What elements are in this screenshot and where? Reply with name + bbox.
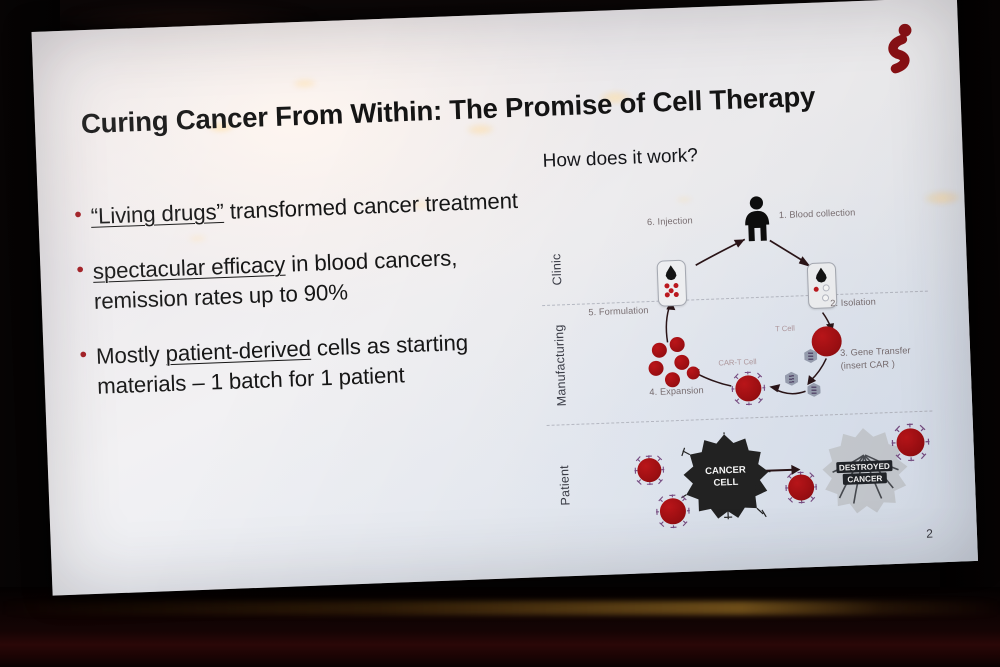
page-title: Curing Cancer From Within: The Promise o…	[80, 77, 911, 140]
bullet-rest: transformed cancer treatment	[223, 188, 518, 224]
cancer-cell-label-line2: CELL	[713, 477, 738, 489]
page-number: 2	[926, 527, 933, 541]
car-t-cell	[891, 423, 930, 462]
step-label-gene-transfer-sub: (insert CAR )	[840, 359, 895, 371]
bullet-list: • “Living drugs” transformed cancer trea…	[74, 186, 532, 428]
list-item: • “Living drugs” transformed cancer trea…	[74, 186, 525, 233]
bullet-marker: •	[74, 202, 82, 232]
cell-dot-empty	[822, 294, 829, 301]
step-label-injection: 6. Injection	[647, 215, 693, 227]
cell-dot	[814, 287, 819, 292]
bullet-emphasis: “Living drugs”	[90, 199, 224, 229]
blood-drop-icon	[815, 267, 828, 282]
cancer-cell-icon: CANCER CELL	[679, 431, 772, 522]
bullet-text: spectacular efficacy in blood cancers, r…	[92, 241, 528, 317]
stage-edge-light-glow	[0, 601, 1000, 615]
bullet-emphasis: spectacular efficacy	[92, 252, 285, 284]
projection-screen: Curing Cancer From Within: The Promise o…	[31, 0, 978, 596]
blood-drop-icon	[665, 265, 678, 280]
car-t-cell	[785, 471, 818, 504]
bullet-text: Mostly patient-derived cells as starting…	[96, 326, 532, 402]
list-item: • spectacular efficacy in blood cancers,…	[76, 241, 528, 318]
process-diagram: How does it work? Clinic Manufacturing P…	[528, 136, 942, 541]
cell-dot	[674, 292, 679, 297]
cell-dot	[669, 288, 674, 293]
car-t-cell	[731, 371, 766, 406]
step-label-isolation: 2. Isolation	[830, 297, 876, 309]
cell-dot	[673, 283, 678, 288]
lamp-reflection	[291, 77, 317, 88]
list-item: • Mostly patient-derived cells as starti…	[79, 326, 531, 403]
cell-dot	[665, 292, 670, 297]
blood-bag-icon	[657, 260, 688, 307]
destroyed-label-line1: DESTROYED	[839, 462, 890, 473]
company-logo	[882, 23, 918, 76]
slide: Curing Cancer From Within: The Promise o…	[31, 0, 978, 596]
car-t-cell	[655, 494, 690, 529]
destroyed-label-line2: CANCER	[847, 474, 882, 484]
cancer-cell-label-line1: CANCER	[705, 465, 746, 478]
bullet-pre: Mostly	[96, 341, 166, 369]
cell-dot-empty	[823, 284, 830, 291]
person-icon	[741, 194, 773, 243]
bullet-marker: •	[79, 342, 89, 402]
bullet-emphasis: patient-derived	[165, 336, 311, 366]
bullet-text: “Living drugs” transformed cancer treatm…	[90, 186, 518, 232]
auditorium-photo: Curing Cancer From Within: The Promise o…	[0, 0, 1000, 667]
step-label-expansion: 4. Expansion	[649, 385, 704, 397]
room-darkness-bottom	[0, 587, 1000, 667]
annotation-cart-cell: CAR-T Cell	[718, 357, 757, 367]
annotation-tcell: T Cell	[775, 324, 795, 334]
bullet-marker: •	[76, 257, 86, 317]
car-t-cell	[634, 455, 665, 486]
